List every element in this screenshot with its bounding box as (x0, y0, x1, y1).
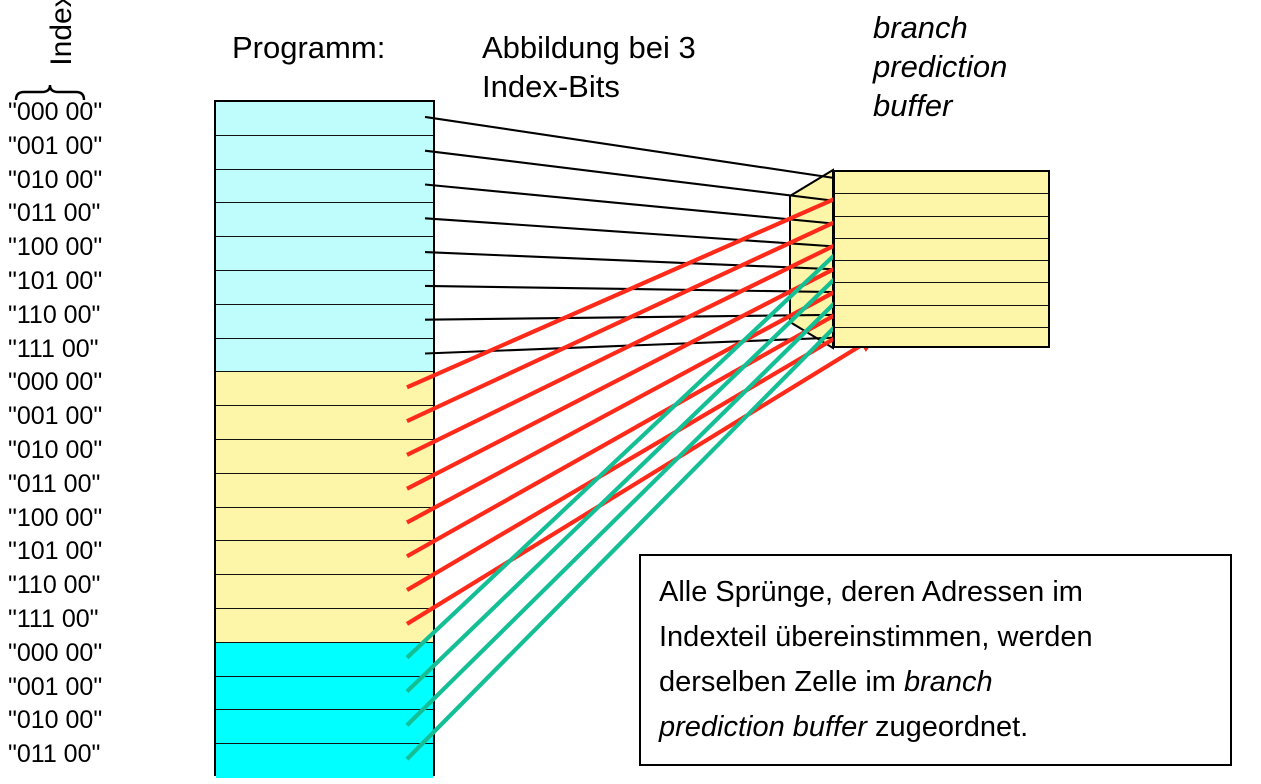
mapping-arrow-red (407, 226, 875, 455)
mapping-title: Abbildung bei 3 Index-Bits (482, 28, 696, 106)
program-row (216, 203, 433, 237)
address-label: "010 00" (8, 164, 198, 198)
caption-line-2: Indexteil übereinstimmen, werden (659, 615, 1212, 660)
mapping-arrow-black (425, 315, 855, 320)
mapping-arrow-red (407, 270, 875, 522)
program-row (216, 271, 433, 305)
address-label: "110 00" (8, 299, 198, 333)
program-row (216, 406, 433, 440)
caption-line-1: Alle Sprünge, deren Adressen im (659, 570, 1212, 615)
caption-line-3: derselben Zelle im branch (659, 660, 1212, 705)
address-label: "100 00" (8, 231, 198, 265)
address-label: "000 00" (8, 366, 198, 400)
program-row (216, 710, 433, 744)
mapping-arrow-red (407, 248, 875, 489)
program-row (216, 440, 433, 474)
caption-line-4: prediction buffer zugeordnet. (659, 705, 1212, 750)
program-row (216, 339, 433, 373)
mapping-funnel-shape (790, 170, 833, 348)
index-label: Index (32, 0, 92, 89)
address-label-column: "000 00""001 00""010 00""011 00""100 00"… (8, 96, 198, 772)
address-label: "101 00" (8, 265, 198, 299)
caption-line-4-italic: prediction buffer (659, 711, 867, 743)
address-label: "101 00" (8, 535, 198, 569)
program-row (216, 237, 433, 271)
address-label: "000 00" (8, 96, 198, 130)
mapping-arrow-red (407, 181, 875, 387)
address-label: "111 00" (8, 603, 198, 637)
address-label: "011 00" (8, 197, 198, 231)
mapping-arrow-black (425, 337, 855, 354)
program-row (216, 170, 433, 204)
program-row (216, 575, 433, 609)
buffer-row (835, 261, 1048, 283)
program-row (216, 744, 433, 778)
address-label: "111 00" (8, 333, 198, 367)
address-label: "001 00" (8, 130, 198, 164)
program-row (216, 136, 433, 170)
address-label: "010 00" (8, 704, 198, 738)
mapping-arrow-black (425, 252, 855, 270)
buffer-row (835, 306, 1048, 328)
address-label: "000 00" (8, 637, 198, 671)
program-memory-table (214, 100, 435, 776)
mapping-arrow-red (407, 203, 875, 421)
program-row (216, 102, 433, 136)
buffer-row (835, 239, 1048, 261)
buffer-row (835, 194, 1048, 216)
address-label: "010 00" (8, 434, 198, 468)
buffer-row (835, 283, 1048, 305)
program-row (216, 305, 433, 339)
program-row (216, 541, 433, 575)
address-label: "110 00" (8, 569, 198, 603)
program-row (216, 508, 433, 542)
caption-line-3-italic: branch (904, 666, 993, 698)
caption-box: Alle Sprünge, deren Adressen im Indextei… (639, 554, 1232, 766)
program-row (216, 609, 433, 643)
address-label: "100 00" (8, 502, 198, 536)
black-arrow-group (425, 117, 855, 354)
buffer-row (835, 172, 1048, 194)
program-row (216, 474, 433, 508)
program-title: Programm: (232, 28, 385, 67)
caption-line-4-plain: zugeordnet. (867, 711, 1028, 743)
program-row (216, 677, 433, 711)
diagram-canvas: Index "000 00""001 00""010 00""011 00""1… (0, 0, 1261, 784)
program-row (216, 372, 433, 406)
caption-line-3-plain: derselben Zelle im (659, 666, 904, 698)
address-label: "001 00" (8, 671, 198, 705)
mapping-arrow-black (425, 117, 855, 181)
buffer-title: branch prediction buffer (873, 8, 1007, 125)
program-row (216, 643, 433, 677)
branch-prediction-buffer-table (833, 170, 1050, 348)
mapping-arrow-red (407, 292, 875, 556)
mapping-arrow-red (407, 315, 875, 590)
mapping-arrow-black (425, 286, 855, 292)
mapping-arrow-black (425, 218, 855, 248)
address-label: "011 00" (8, 738, 198, 772)
buffer-row (835, 217, 1048, 239)
mapping-arrow-black (425, 185, 855, 226)
buffer-row (835, 328, 1048, 350)
address-label: "011 00" (8, 468, 198, 502)
mapping-arrow-black (425, 151, 855, 204)
address-label: "001 00" (8, 400, 198, 434)
